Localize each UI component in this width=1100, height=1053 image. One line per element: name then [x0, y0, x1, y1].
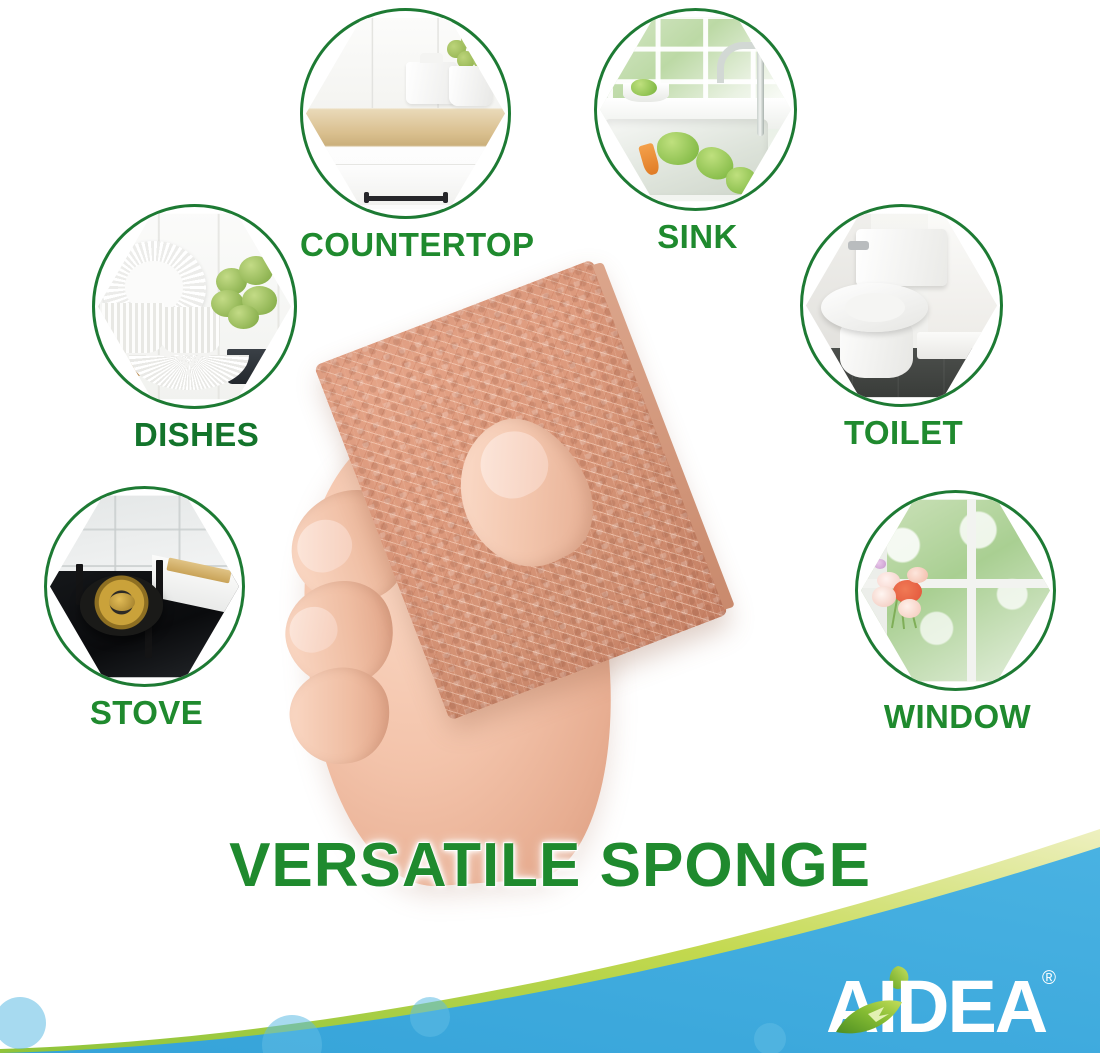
- feature-countertop: COUNTERTOP: [300, 8, 515, 268]
- hex-mask: [306, 14, 505, 213]
- feature-toilet: TOILET: [800, 204, 1007, 462]
- hex-mask: [50, 492, 239, 681]
- page-title: VERSATILE SPONGE: [0, 830, 1100, 901]
- feature-image-dishes: [92, 204, 297, 409]
- hex-mask: [600, 14, 791, 205]
- feature-label-dishes: DISHES: [92, 416, 301, 454]
- brand-logo: AIDEA ®: [826, 962, 1072, 1040]
- hex-mask: [861, 496, 1050, 685]
- feature-image-countertop: [300, 8, 511, 219]
- kitchen-sink-photo: [600, 14, 791, 205]
- feature-label-window: WINDOW: [855, 698, 1060, 736]
- feature-image-window: [855, 490, 1056, 691]
- feature-label-countertop: COUNTERTOP: [300, 226, 515, 264]
- gas-stove-photo: [50, 492, 239, 681]
- hex-mask: [806, 210, 997, 401]
- kitchen-countertop-photo: [306, 14, 505, 213]
- window-with-flowers-photo: [861, 496, 1050, 685]
- feature-label-stove: STOVE: [44, 694, 249, 732]
- feature-image-stove: [44, 486, 245, 687]
- bathroom-toilet-photo: [806, 210, 997, 401]
- hand-holding-sponge-photo: [286, 296, 716, 896]
- feature-label-toilet: TOILET: [800, 414, 1007, 452]
- white-dishes-photo: [98, 210, 291, 403]
- trademark-symbol: ®: [1042, 968, 1056, 989]
- feature-window: WINDOW: [855, 490, 1060, 746]
- hex-mask: [98, 210, 291, 403]
- feature-dishes: DISHES: [92, 204, 301, 462]
- feature-label-sink: SINK: [594, 218, 801, 256]
- feature-sink: SINK: [594, 8, 801, 268]
- product-infographic: COUNTERTOP SINK: [0, 0, 1100, 1053]
- feature-image-sink: [594, 8, 797, 211]
- feature-image-toilet: [800, 204, 1003, 407]
- feature-stove: STOVE: [44, 486, 249, 742]
